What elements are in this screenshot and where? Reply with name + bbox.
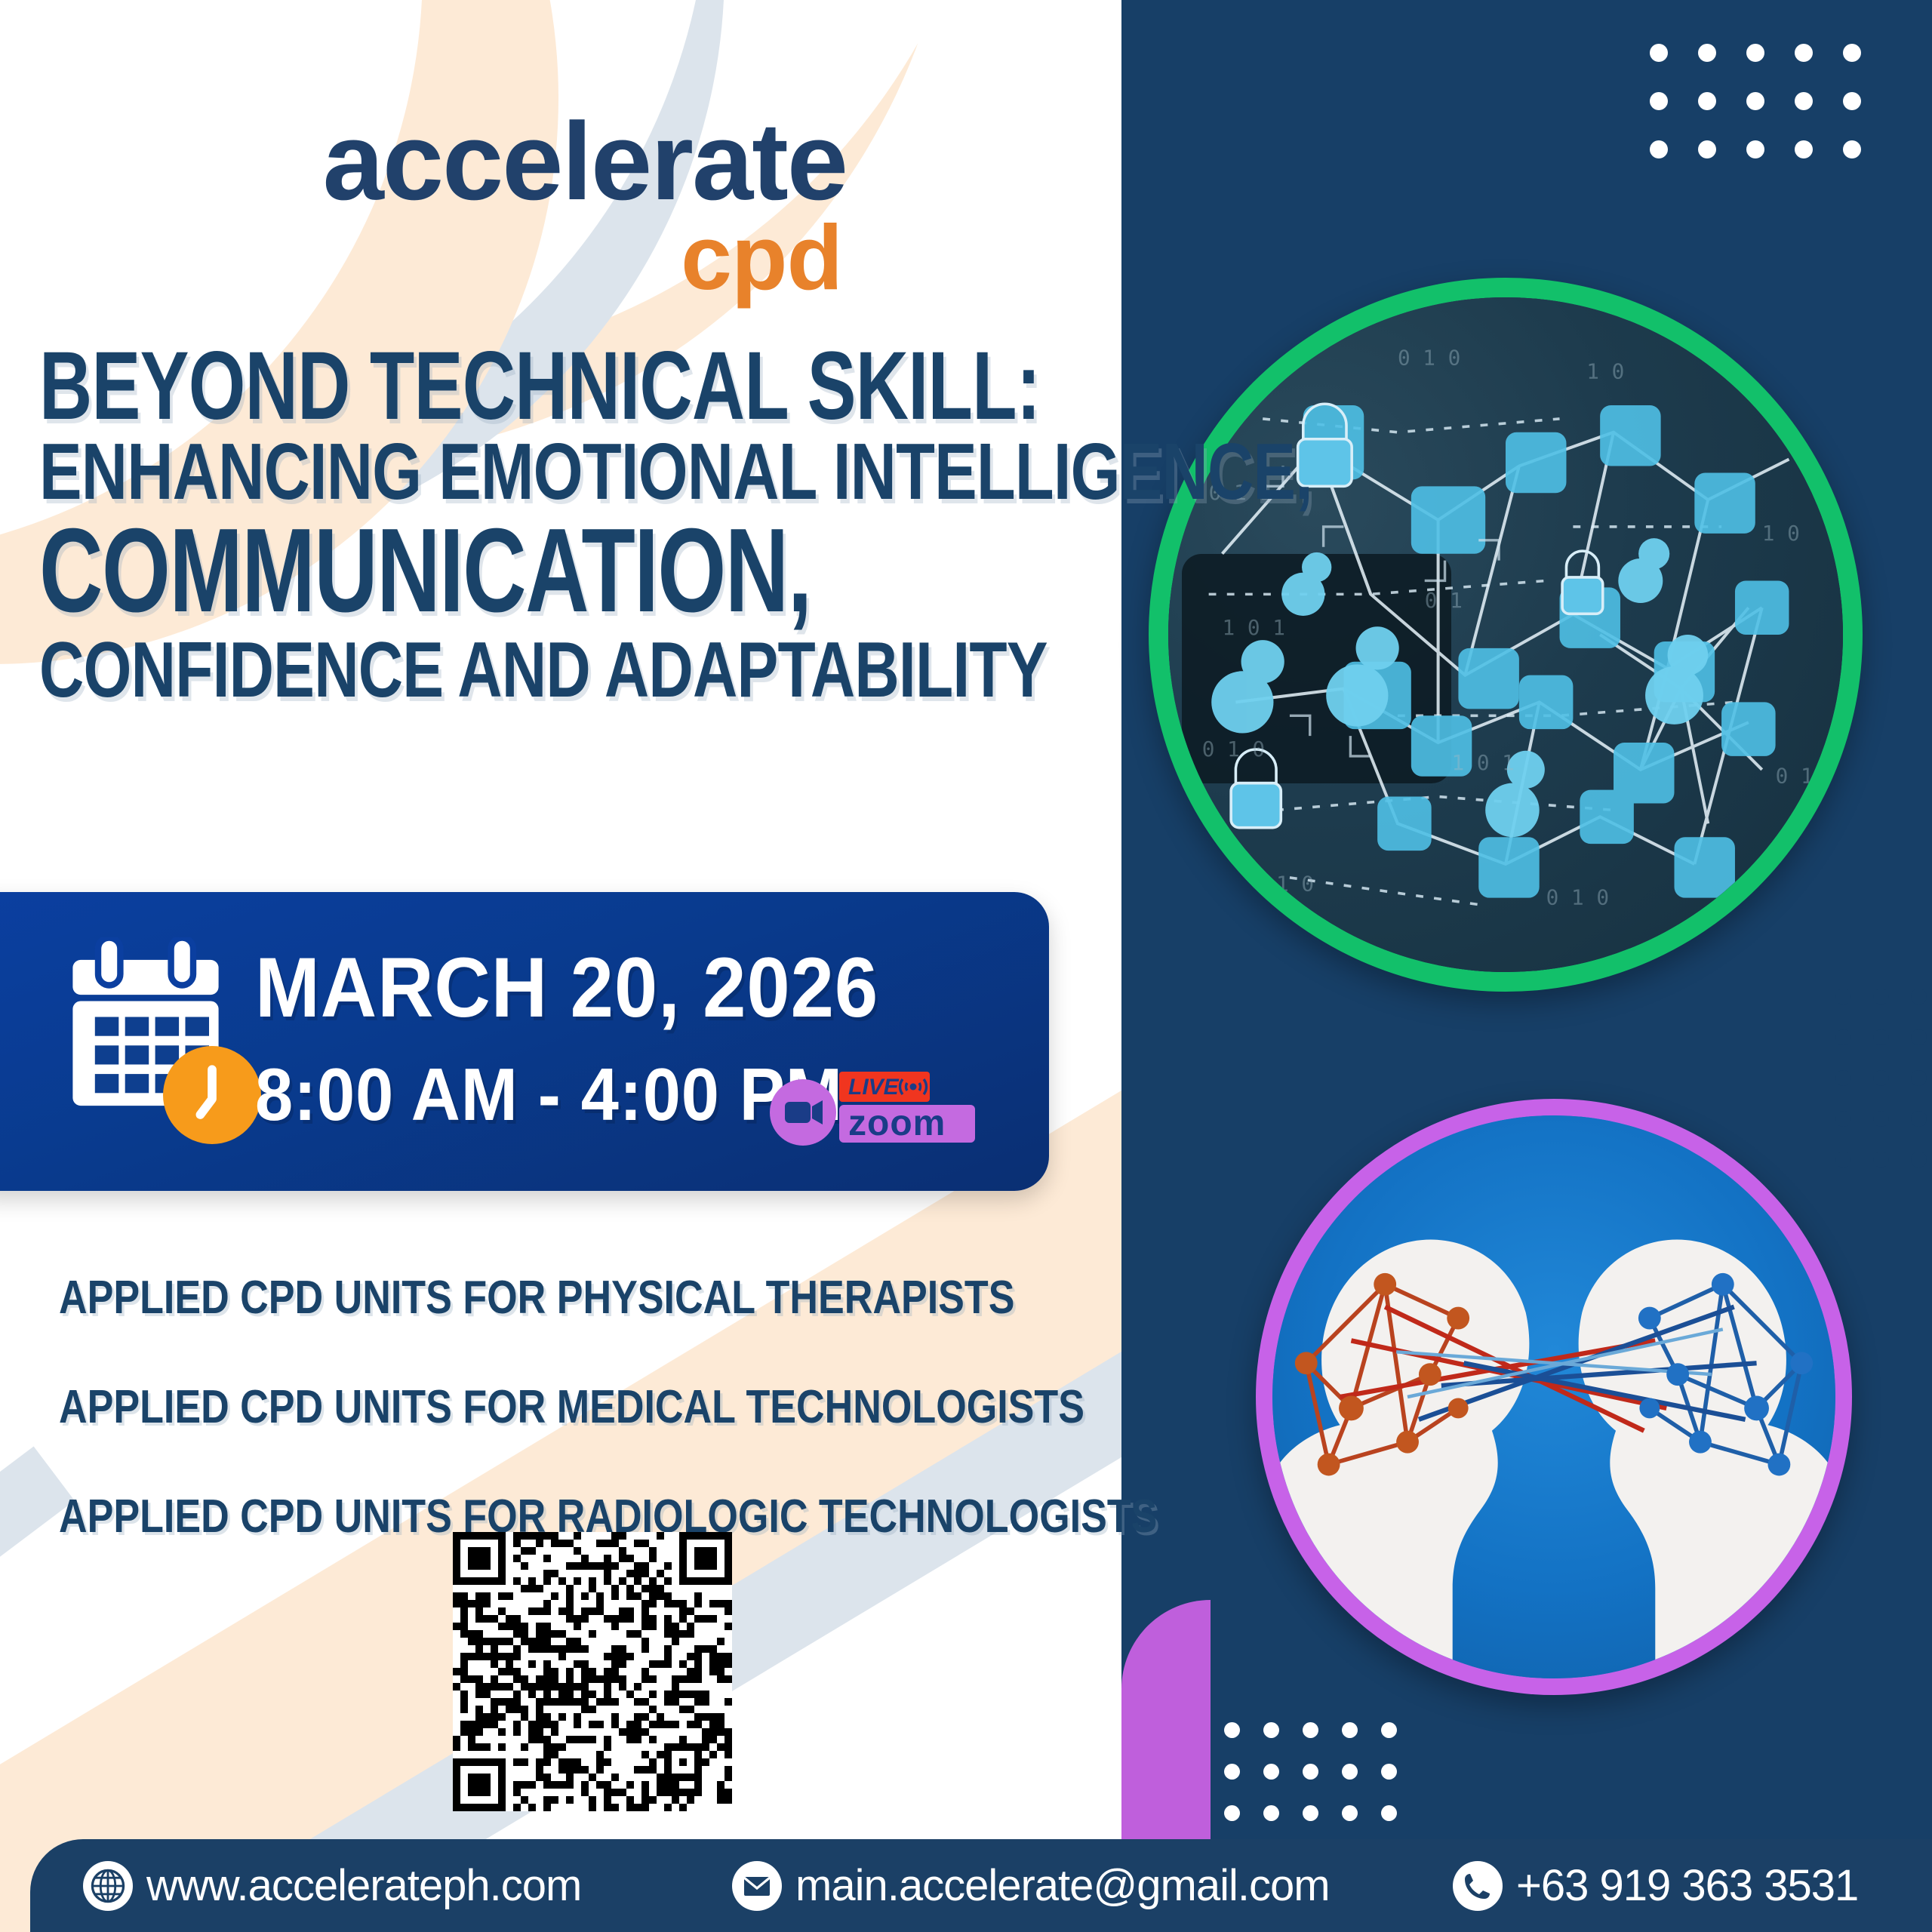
qr-code[interactable] <box>453 1532 732 1811</box>
event-time: 8:00 AM - 4:00 PM <box>255 1052 843 1137</box>
svg-text:0 1 0: 0 1 0 <box>1398 345 1460 370</box>
envelope-icon <box>732 1861 782 1911</box>
svg-text:0 1 0: 0 1 0 <box>1546 885 1609 910</box>
title-line-3: COMMUNICATION, <box>39 515 832 627</box>
title-line-2: ENHANCING EMOTIONAL INTELLIGENCE, <box>39 435 897 510</box>
zoom-live-logo: LIVE zoom <box>770 1060 975 1150</box>
footer-email[interactable]: main.accelerate@gmail.com <box>732 1860 1330 1911</box>
logo-cpd: cpd <box>300 217 842 300</box>
globe-icon <box>83 1861 133 1911</box>
communication-photo-inner <box>1272 1115 1835 1678</box>
page-title: BEYOND TECHNICAL SKILL: ENHANCING EMOTIO… <box>39 341 1111 708</box>
footer-phone[interactable]: +63 919 363 3531 <box>1453 1860 1858 1911</box>
svg-text:1 0 1: 1 0 1 <box>1451 750 1514 775</box>
dot-grid-right <box>1835 989 1932 1192</box>
dot-grid-top-right <box>1650 44 1891 189</box>
svg-text:1 0: 1 0 <box>1762 521 1800 546</box>
svg-text:LIVE: LIVE <box>848 1075 900 1100</box>
event-date: MARCH 20, 2026 <box>255 939 878 1036</box>
footer-website[interactable]: www.accelerateph.com <box>83 1860 581 1911</box>
clock-icon <box>163 1046 261 1144</box>
communication-photo-circle <box>1256 1099 1852 1695</box>
brand-logo: accelerate cpd <box>300 112 847 300</box>
poster-canvas: 1 0 10 1 0 0 1 11 0 1 0 10 1 0 1 01 0 1 … <box>0 0 1932 1932</box>
logo-accelerate: accelerate <box>300 112 847 211</box>
svg-text:1 0 1: 1 0 1 <box>1195 358 1258 383</box>
title-line-4: CONFIDENCE AND ADAPTABILITY <box>39 634 886 708</box>
svg-text:1 0 1: 1 0 1 <box>1223 615 1285 640</box>
zoom-wordmark: zoom <box>848 1103 946 1143</box>
footer-phone-text: +63 919 363 3531 <box>1516 1860 1858 1911</box>
network-photo-inner: 1 0 10 1 0 0 1 11 0 1 0 10 1 0 1 01 0 1 … <box>1168 297 1843 972</box>
footer-email-text: main.accelerate@gmail.com <box>795 1860 1330 1911</box>
footer-contact-bar: www.accelerateph.com main.accelerate@gma… <box>30 1839 1932 1932</box>
title-line-1: BEYOND TECHNICAL SKILL: <box>39 341 854 432</box>
svg-text:1 0: 1 0 <box>1586 358 1624 383</box>
two-heads-network-overlay <box>1272 1115 1835 1678</box>
svg-text:0 1 0: 0 1 0 <box>1202 737 1265 761</box>
svg-text:0 1: 0 1 <box>1776 764 1814 789</box>
footer-website-text: www.accelerateph.com <box>146 1860 581 1911</box>
phone-icon <box>1453 1861 1503 1911</box>
dot-grid-bottom-left-panel <box>1224 1722 1420 1847</box>
svg-text:0 1: 0 1 <box>1425 588 1463 613</box>
cpd-unit-item: APPLIED CPD UNITS FOR MEDICAL TECHNOLOGI… <box>59 1380 909 1434</box>
cpd-unit-item: APPLIED CPD UNITS FOR PHYSICAL THERAPIST… <box>59 1271 909 1324</box>
network-diagram-overlay: 1 0 10 1 0 0 1 11 0 1 0 10 1 0 1 01 0 1 … <box>1168 297 1843 972</box>
network-photo-circle: 1 0 10 1 0 0 1 11 0 1 0 10 1 0 1 01 0 1 … <box>1149 278 1863 992</box>
svg-text:1 0: 1 0 <box>1276 872 1314 897</box>
